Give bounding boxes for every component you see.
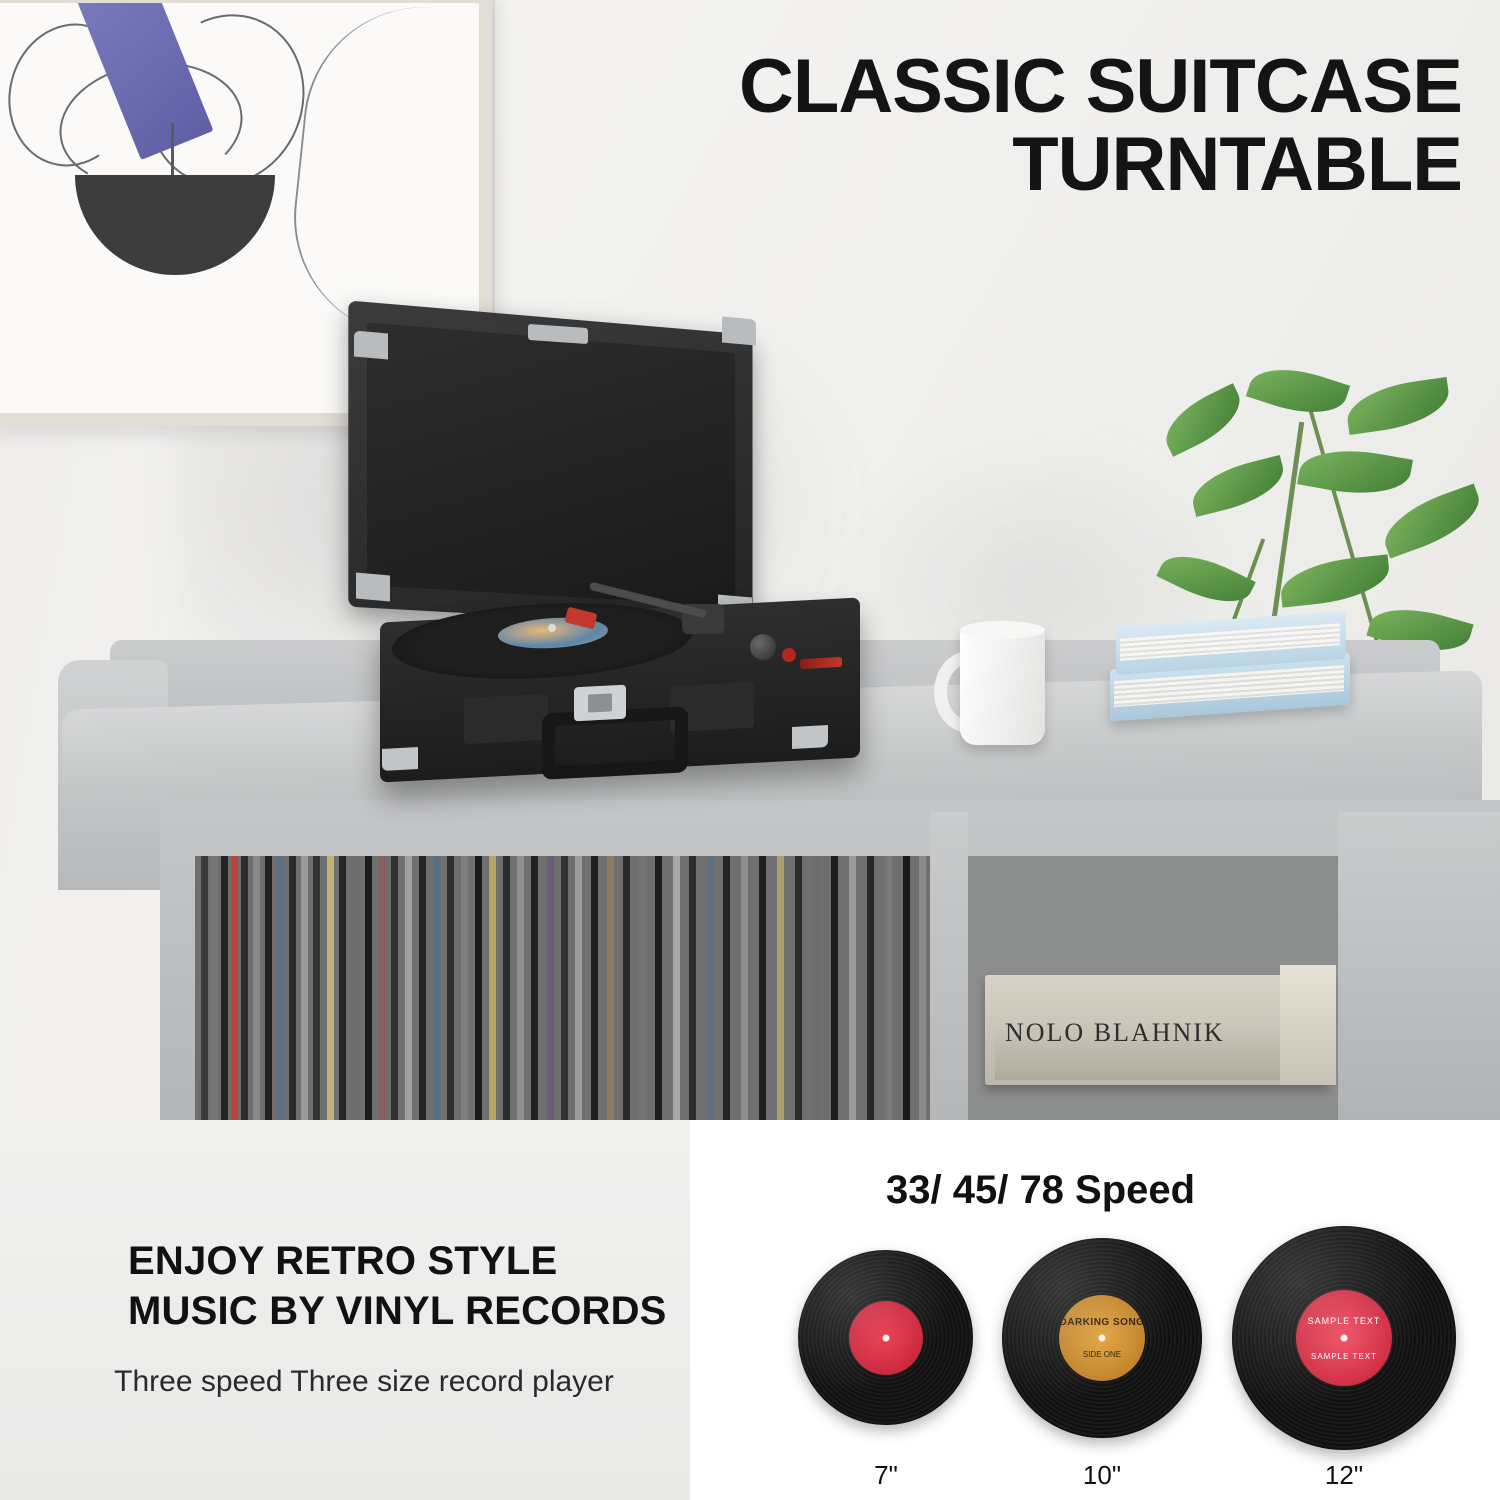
plant-leaf [1297,441,1413,503]
suitcase-turntable [352,318,862,798]
vinyl-record-10in: DARKING SONG SIDE ONE [1002,1238,1202,1438]
plant-leaf [1278,554,1392,607]
art-stem [171,123,174,181]
case-foot [792,725,828,749]
turntable-spindle [548,624,556,632]
record-size-caption-10in: 10" [1042,1460,1162,1491]
vinyl-label-10in-top-text: DARKING SONG [1060,1317,1145,1328]
hero-title-line1: CLASSIC SUITCASE [739,44,1462,129]
vinyl-spindle-hole [1341,1335,1348,1342]
feature-headline-line2: MUSIC BY VINYL RECORDS [128,1286,668,1336]
feature-subline: Three speed Three size record player [54,1365,674,1399]
hero-title: CLASSIC SUITCASE TURNTABLE [682,48,1462,203]
hero-title-line2: TURNTABLE [682,126,1462,204]
vinyl-record-7in [798,1250,973,1425]
plant-leaf [1376,483,1488,558]
case-clasp-inner [588,693,612,712]
volume-knob[interactable] [750,634,776,660]
book-stack-on-cabinet [1100,605,1360,735]
hero-photo: NOLO BLAHNIK [0,0,1500,1120]
vinyl-record-12in: SAMPLE TEXT SAMPLE TEXT [1232,1226,1456,1450]
vinyl-label-12in-bottom-text: SAMPLE TEXT [1311,1352,1377,1361]
plant-leaf [1187,455,1290,517]
record-size-row: DARKING SONG SIDE ONE SAMPLE TEXT SAMPLE… [780,1250,1480,1500]
feature-headline: ENJOY RETRO STYLE MUSIC BY VINYL RECORDS [128,1236,668,1336]
mug-body [960,625,1045,745]
speed-selector-knob[interactable] [782,648,796,662]
record-size-caption-7in: 7" [826,1460,946,1491]
plant-leaf [1156,383,1251,457]
coffee-mug [940,625,1050,755]
record-size-caption-12in: 12" [1284,1460,1404,1491]
cabinet-divider [930,812,968,1120]
base-side-panel-left [464,694,548,744]
vinyl-spindle-hole [882,1334,889,1341]
vinyl-label-10in-bottom-text: SIDE ONE [1083,1350,1121,1359]
lid-corner-protector [722,317,756,346]
shelf-book-title: NOLO BLAHNIK [1005,1018,1225,1048]
case-foot [382,747,418,771]
shelf-book-edge [1280,965,1336,1085]
vinyl-label-12in-top-text: SAMPLE TEXT [1308,1316,1381,1326]
record-storage-shelf [195,856,935,1120]
product-infographic: NOLO BLAHNIK [0,0,1500,1500]
lid-corner-protector [356,573,390,602]
mug-rim [960,621,1045,639]
feature-panel: ENJOY RETRO STYLE MUSIC BY VINYL RECORDS… [0,1120,1500,1500]
vinyl-record-collection [195,856,935,1120]
turntable-lid-inner-panel [367,322,735,606]
turntable-lid [348,300,752,628]
lid-corner-protector [354,331,388,360]
plant-leaf [1343,377,1452,435]
vinyl-spindle-hole [1099,1335,1106,1342]
speed-title: 33/ 45/ 78 Speed [886,1168,1195,1213]
feature-headline-line1: ENJOY RETRO STYLE [128,1236,668,1286]
cabinet-right-panel [1338,812,1500,1120]
